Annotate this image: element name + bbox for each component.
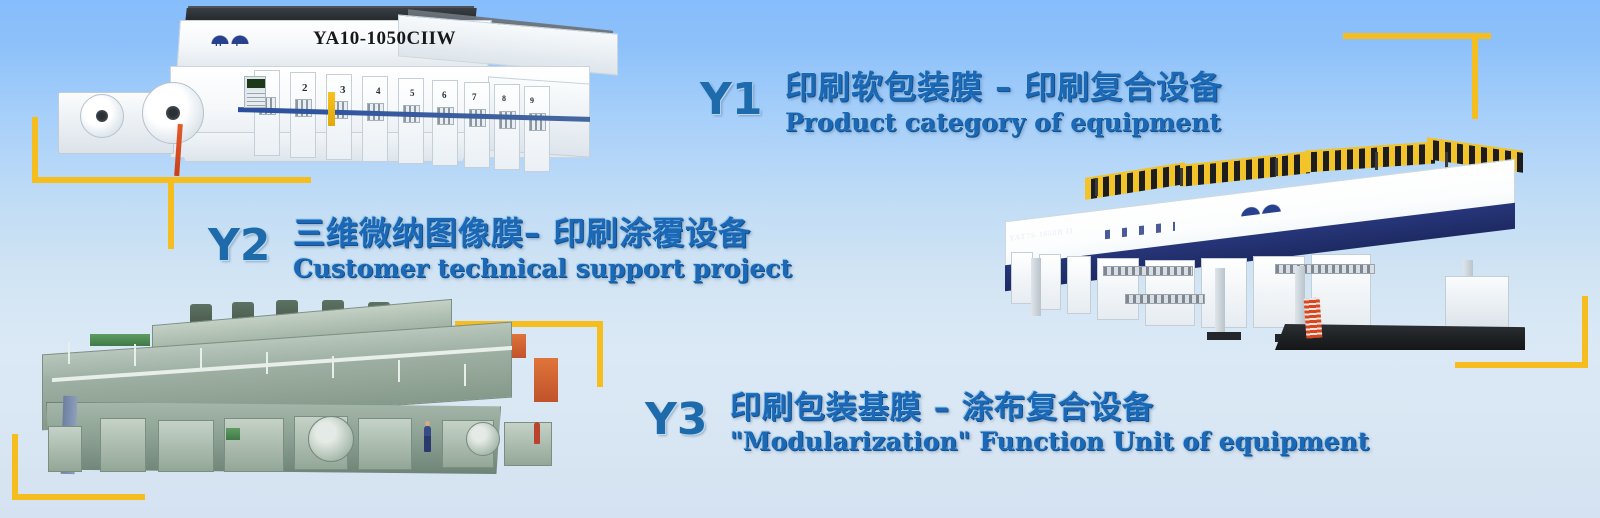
machine-image-coating-laminator: YAT76-1650B II (975, 148, 1545, 363)
text-block-y2: Y2 三维微纳图像膜– 印刷涂覆设备 Customer technical su… (208, 208, 792, 283)
paper-machine-operator (534, 422, 540, 444)
machine-image-paper-machine (22, 298, 582, 494)
label-y2: Y2 (208, 220, 270, 271)
laminator-unit (1039, 254, 1061, 310)
press-unit-number: 5 (410, 88, 415, 98)
bracket-y2-left-vertical (32, 117, 38, 183)
railing-post (1375, 152, 1378, 170)
safety-railing (1180, 151, 1310, 187)
paper-machine-section (48, 426, 82, 472)
laminator-unit (1067, 256, 1091, 314)
press-unit (362, 76, 388, 162)
paper-machine-operator (424, 426, 431, 452)
machine-image-gravure-press: H Y YA10-1050CIIW 1 2 3 4 5 6 7 8 9 (58, 6, 598, 178)
press-unit-number: 4 (376, 86, 381, 96)
text-block-y3: Y3 印刷包装基膜 – 涂布复合设备 "Modularization" Func… (645, 382, 1369, 456)
label-y3: Y3 (645, 394, 707, 445)
text-block-y1: Y1 印刷软包装膜 – 印刷复合设备 Product category of e… (700, 62, 1222, 137)
railing-post (1275, 158, 1278, 176)
hy-logo-icon: H Y (202, 30, 258, 56)
press-yellow-marker (328, 92, 335, 126)
press-unit-number: 8 (502, 94, 506, 103)
press-reel-hub (166, 106, 180, 120)
product-banner: H Y YA10-1050CIIW 1 2 3 4 5 6 7 8 9 (0, 0, 1600, 518)
press-unit-number: 6 (442, 90, 447, 100)
press-model-label: YA10-1050CIIW (313, 28, 456, 50)
bracket-y1-top (1343, 33, 1491, 39)
press-unit (464, 82, 490, 168)
press-unit (494, 84, 520, 170)
laminator-roller (1125, 294, 1205, 304)
press-unit-number: 9 (530, 96, 534, 105)
paper-machine-section (158, 420, 214, 472)
paper-machine-guardrail-post (332, 356, 334, 378)
paper-machine-guardrail-post (464, 364, 466, 386)
heading-cn-y1: 印刷软包装膜 – 印刷复合设备 (785, 68, 1222, 106)
laminator-roller (1103, 266, 1193, 276)
safety-railing (1085, 162, 1185, 200)
laminator-base-foot (1207, 332, 1241, 340)
paper-machine-guardrail-post (398, 360, 400, 382)
railing-post (1095, 178, 1098, 196)
paper-machine-guardrail-post (200, 348, 202, 370)
press-unit-number: 2 (302, 82, 308, 94)
laminator-unit (1011, 252, 1033, 304)
heading-cn-y2: 三维微纳图像膜– 印刷涂覆设备 (293, 214, 751, 252)
paper-machine-guardrail-post (266, 352, 268, 374)
heading-en-y2: Customer technical support project (293, 254, 792, 283)
laminator-roller (1275, 264, 1375, 274)
laminator-hose-coil (1304, 297, 1323, 338)
press-reel-small-hub (96, 110, 108, 122)
label-y1: Y1 (700, 74, 762, 125)
press-unit (524, 86, 550, 172)
laminator-support-leg (1215, 268, 1225, 334)
paper-machine-reel (308, 416, 354, 462)
bracket-bottom-right-vertical (1582, 296, 1588, 362)
laminator-rewinder (1445, 276, 1509, 328)
railing-post (1180, 168, 1183, 186)
paper-machine-guardrail-post (134, 344, 136, 366)
safety-railing (1305, 141, 1435, 172)
bracket-y3-top-vertical (597, 321, 603, 387)
press-control-panel (244, 76, 266, 108)
heading-cn-y3: 印刷包装基膜 – 涂布复合设备 (730, 390, 1154, 426)
laminator-support-leg (1031, 258, 1041, 316)
paper-machine-green-panel (90, 334, 150, 346)
heading-en-y3: "Modularization" Function Unit of equipm… (730, 427, 1369, 456)
bracket-bottom-left-horizontal (12, 494, 145, 500)
bracket-y1-right (1472, 33, 1478, 119)
paper-machine-green-panel (226, 428, 240, 440)
press-unit-number: 3 (340, 84, 346, 96)
paper-machine-reel (466, 422, 500, 456)
paper-machine-section (224, 418, 284, 472)
press-unit-number: 7 (472, 92, 477, 102)
bracket-y2-stem-vertical (168, 177, 174, 249)
paper-machine-orange-unit (534, 358, 558, 402)
heading-en-y1: Product category of equipment (785, 108, 1221, 137)
paper-machine-section (358, 418, 412, 470)
press-lower-skirt (174, 132, 474, 162)
paper-machine-section (504, 422, 552, 466)
paper-machine-section (100, 418, 146, 472)
bracket-bottom-left-vertical (12, 434, 18, 500)
paper-machine-guardrail-post (68, 342, 70, 364)
